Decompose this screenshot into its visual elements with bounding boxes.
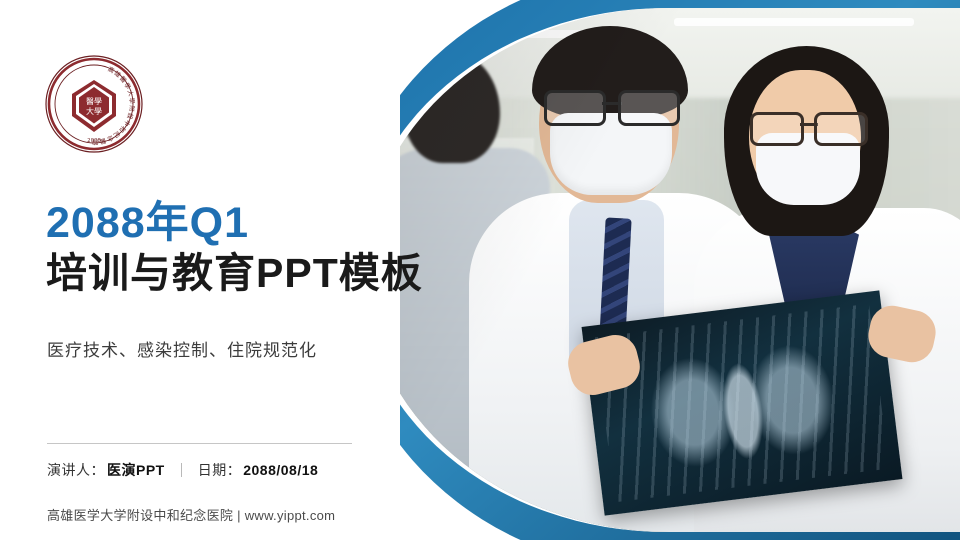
- svg-text:大學: 大學: [86, 106, 102, 116]
- date-value: 2088/08/18: [243, 462, 318, 478]
- presenter-meta: 演讲人： 医演PPT 日期： 2088/08/18: [47, 460, 318, 480]
- title-line-1: 2088年Q1: [46, 198, 466, 249]
- hospital-crest-logo: 高雄醫學大學附設中和紀念醫院 醫學 大學 2008: [44, 54, 144, 154]
- photo-shading-overlay: [400, 8, 960, 532]
- page-title: 2088年Q1 培训与教育PPT模板: [46, 198, 466, 298]
- hero-photo-region: [400, 0, 960, 540]
- meta-separator: [181, 463, 182, 477]
- photo-scene: [400, 8, 960, 532]
- doctors-xray-photo: [400, 8, 960, 532]
- subtitle-text: 医疗技术、感染控制、住院规范化: [47, 336, 317, 361]
- speaker-label: 演讲人：: [47, 460, 105, 480]
- title-slide: 高雄醫學大學附設中和紀念醫院 醫學 大學 2008 2088年Q1 培训与教育P…: [0, 0, 960, 540]
- divider-rule: [47, 443, 352, 444]
- footer-text: 高雄医学大学附设中和纪念医院 | www.yippt.com: [47, 505, 335, 524]
- speaker-value: 医演PPT: [107, 460, 165, 480]
- svg-text:醫學: 醫學: [86, 96, 102, 106]
- title-line-2: 培训与教育PPT模板: [46, 249, 466, 298]
- date-label: 日期：: [198, 460, 242, 480]
- svg-text:2008: 2008: [87, 138, 101, 144]
